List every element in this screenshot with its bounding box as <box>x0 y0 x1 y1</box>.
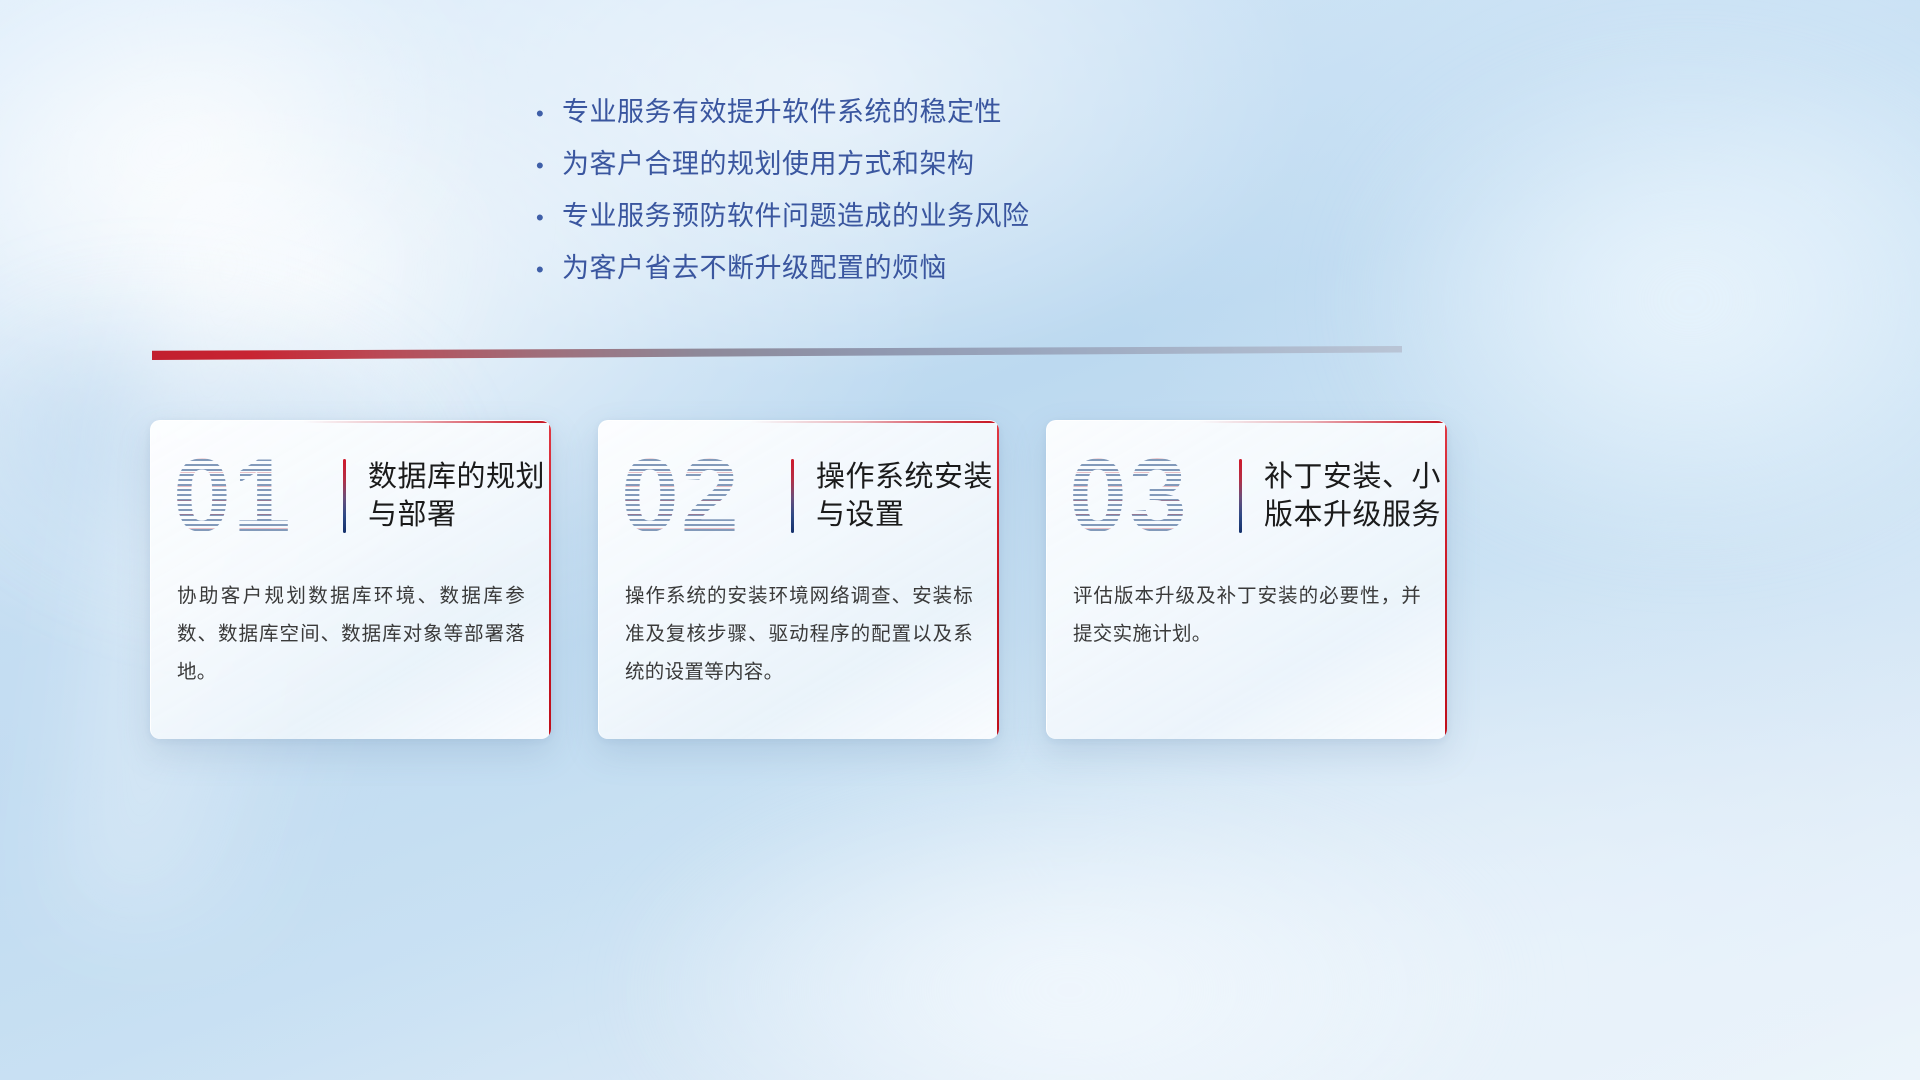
card-title-divider <box>1239 459 1242 533</box>
card-number-watermark: 03 03 <box>1069 444 1237 548</box>
card-number-watermark: 02 02 <box>621 444 789 548</box>
bullet-dot-icon: • <box>536 103 562 125</box>
card-body-text: 操作系统的安装环境网络调查、安装标准及复核步骤、驱动程序的配置以及系统的设置等内… <box>599 571 999 691</box>
benefits-bullet-list: • 专业服务有效提升软件系统的稳定性 • 为客户合理的规划使用方式和架构 • 专… <box>536 90 1436 298</box>
bullet-text: 为客户合理的规划使用方式和架构 <box>562 142 975 181</box>
card-number-tint: 02 <box>621 444 741 548</box>
service-card[interactable]: 02 02 操作系统安装 与设置 操作系统的安装环境网络调查、安装标准及复核步骤… <box>598 420 999 739</box>
card-title: 补丁安装、小 版本升级服务 <box>1264 458 1441 535</box>
bullet-dot-icon: • <box>536 155 562 177</box>
card-body-text: 协助客户规划数据库环境、数据库参数、数据库空间、数据库对象等部署落地。 <box>151 571 551 691</box>
background-light-streak <box>620 780 1520 1080</box>
card-header: 01 01 数据库的规划 与部署 <box>151 421 551 571</box>
card-body-text: 评估版本升级及补丁安装的必要性，并提交实施计划。 <box>1047 571 1447 653</box>
card-title: 数据库的规划 与部署 <box>368 458 545 535</box>
list-item: • 为客户省去不断升级配置的烦恼 <box>536 246 1436 298</box>
card-title-divider <box>343 459 346 533</box>
service-card[interactable]: 03 03 补丁安装、小 版本升级服务 评估版本升级及补丁安装的必要性，并提交实… <box>1046 420 1447 739</box>
section-divider <box>152 346 1402 360</box>
card-header: 03 03 补丁安装、小 版本升级服务 <box>1047 421 1447 571</box>
bullet-dot-icon: • <box>536 259 562 281</box>
card-title: 操作系统安装 与设置 <box>816 458 993 535</box>
list-item: • 为客户合理的规划使用方式和架构 <box>536 142 1436 194</box>
background-light-streak <box>0 0 530 446</box>
service-card-group: 01 01 数据库的规划 与部署 协助客户规划数据库环境、数据库参数、数据库空间… <box>150 420 1770 740</box>
card-number-watermark: 01 01 <box>173 444 341 548</box>
list-item: • 专业服务有效提升软件系统的稳定性 <box>536 90 1436 142</box>
slide-canvas: • 专业服务有效提升软件系统的稳定性 • 为客户合理的规划使用方式和架构 • 专… <box>0 0 1920 1080</box>
section-divider-gradient <box>152 346 1402 360</box>
list-item: • 专业服务预防软件问题造成的业务风险 <box>536 194 1436 246</box>
service-card[interactable]: 01 01 数据库的规划 与部署 协助客户规划数据库环境、数据库参数、数据库空间… <box>150 420 551 739</box>
bullet-text: 专业服务有效提升软件系统的稳定性 <box>562 90 1002 129</box>
card-header: 02 02 操作系统安装 与设置 <box>599 421 999 571</box>
bullet-dot-icon: • <box>536 207 562 229</box>
bullet-text: 专业服务预防软件问题造成的业务风险 <box>562 194 1030 233</box>
card-number-tint: 01 <box>173 444 293 548</box>
bullet-text: 为客户省去不断升级配置的烦恼 <box>562 246 947 285</box>
card-number-tint: 03 <box>1069 444 1189 548</box>
card-title-divider <box>791 459 794 533</box>
